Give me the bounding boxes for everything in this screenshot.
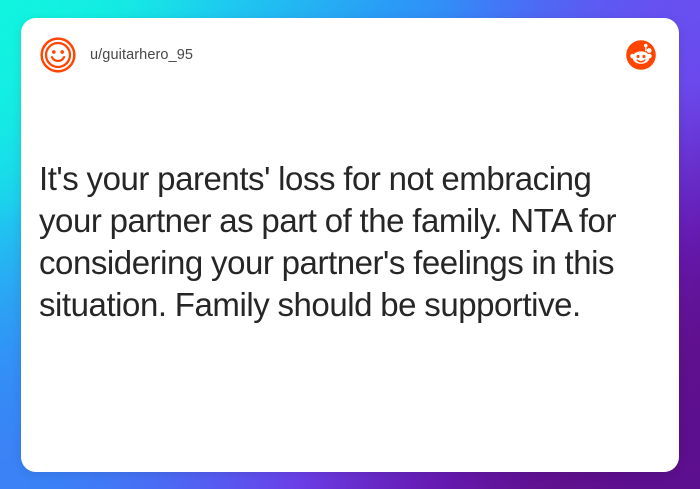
reddit-snoo-icon bbox=[625, 39, 657, 71]
quote-card: u/guitarhero_95 bbox=[21, 18, 679, 472]
smiley-face-icon bbox=[39, 36, 77, 74]
card-header: u/guitarhero_95 bbox=[21, 18, 679, 92]
quote-image-canvas: u/guitarhero_95 bbox=[0, 0, 700, 489]
quote-text: It's your parents' loss for not embracin… bbox=[39, 158, 653, 326]
quote-body: It's your parents' loss for not embracin… bbox=[39, 158, 653, 326]
author-username: u/guitarhero_95 bbox=[90, 47, 193, 63]
